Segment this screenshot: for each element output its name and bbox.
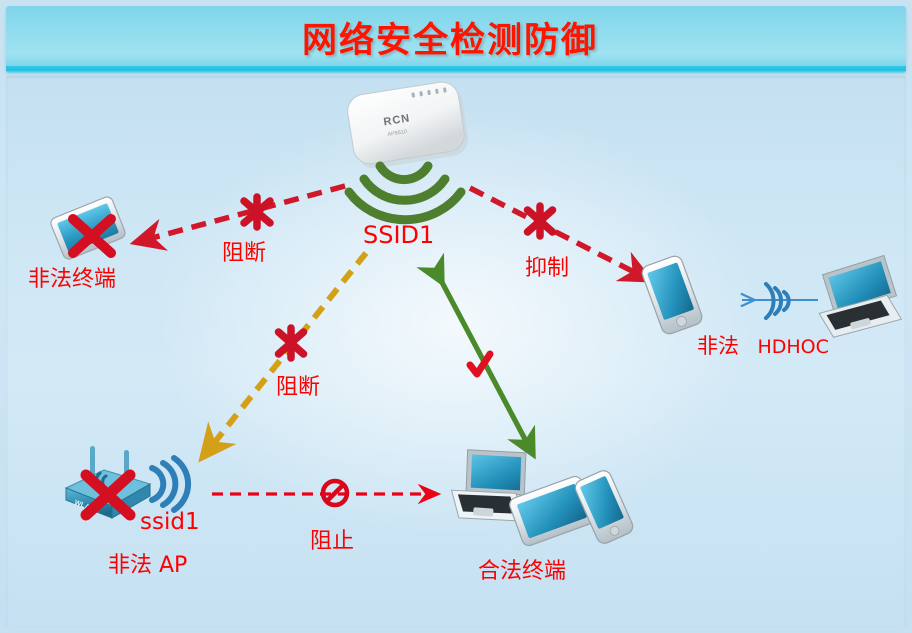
rogue-ap-ssid-label: ssid1	[140, 509, 200, 535]
illegal-adhoc-label: 非法 HDHOC	[697, 330, 829, 360]
ssid1-label: SSID1	[363, 221, 434, 249]
block-label-rogue-ap: 阻断	[276, 369, 320, 401]
block-label-left: 阻断	[222, 235, 266, 267]
illegal-adhoc-label-en: HDHOC	[757, 336, 828, 358]
prevent-label: 阻止	[310, 523, 354, 555]
illegal-terminal-label: 非法终端	[28, 261, 116, 293]
title-bar-accent	[6, 66, 906, 73]
legal-terminals-label: 合法终端	[478, 553, 566, 585]
illegal-adhoc-label-cn: 非法	[697, 334, 739, 358]
diagram-page: 网络安全检测防御	[0, 0, 912, 633]
suppress-label: 抑制	[525, 250, 569, 282]
page-title: 网络安全检测防御	[0, 12, 900, 63]
rogue-ap-label: 非法 AP	[108, 547, 187, 579]
